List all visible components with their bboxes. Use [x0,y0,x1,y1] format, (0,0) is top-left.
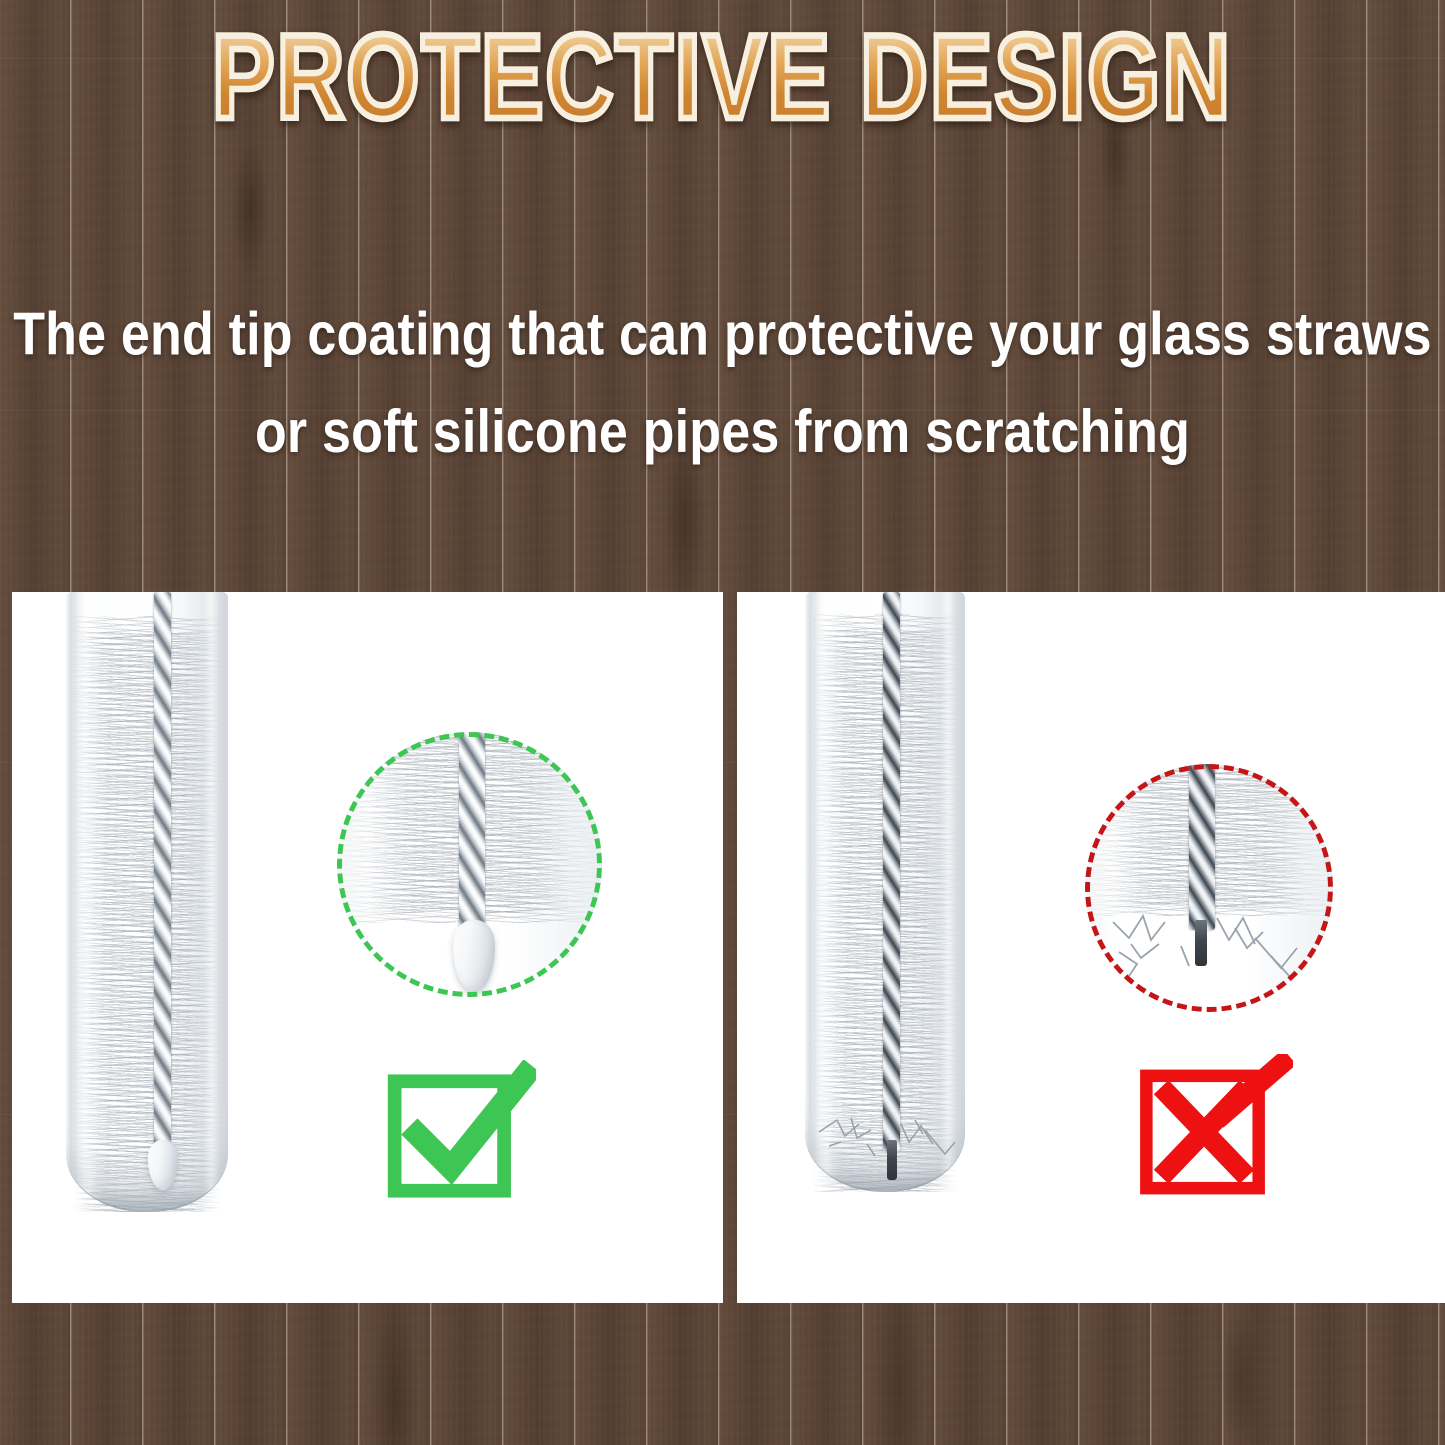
magnified-scratch-marks [1085,892,1333,1012]
subtitle-line-2: or soft silicone pipes from scratching [0,383,1445,480]
brush-wire-core-right [883,592,900,1152]
magnifier-bad [1085,764,1333,1012]
red-cross-square-icon [1137,1054,1293,1210]
page-title: PROTECTIVE DESIGN [212,14,1232,143]
panel-bad-example [737,592,1445,1303]
title-container: PROTECTIVE DESIGN [0,14,1445,113]
green-check-square-icon [384,1060,536,1212]
brush-wire-core-left [154,592,171,1154]
subtitle-line-1: The end tip coating that can protective … [0,286,1445,383]
glass-straw-right [805,592,965,1192]
panel-good-example [12,592,723,1303]
magnifier-good [337,732,602,997]
glass-scratch-marks-right [805,1090,965,1190]
subtitle: The end tip coating that can protective … [0,286,1445,481]
brush-bristles-left-2 [80,632,214,1212]
glass-straw-left [66,592,228,1212]
magnified-wire-core-left [459,732,485,928]
